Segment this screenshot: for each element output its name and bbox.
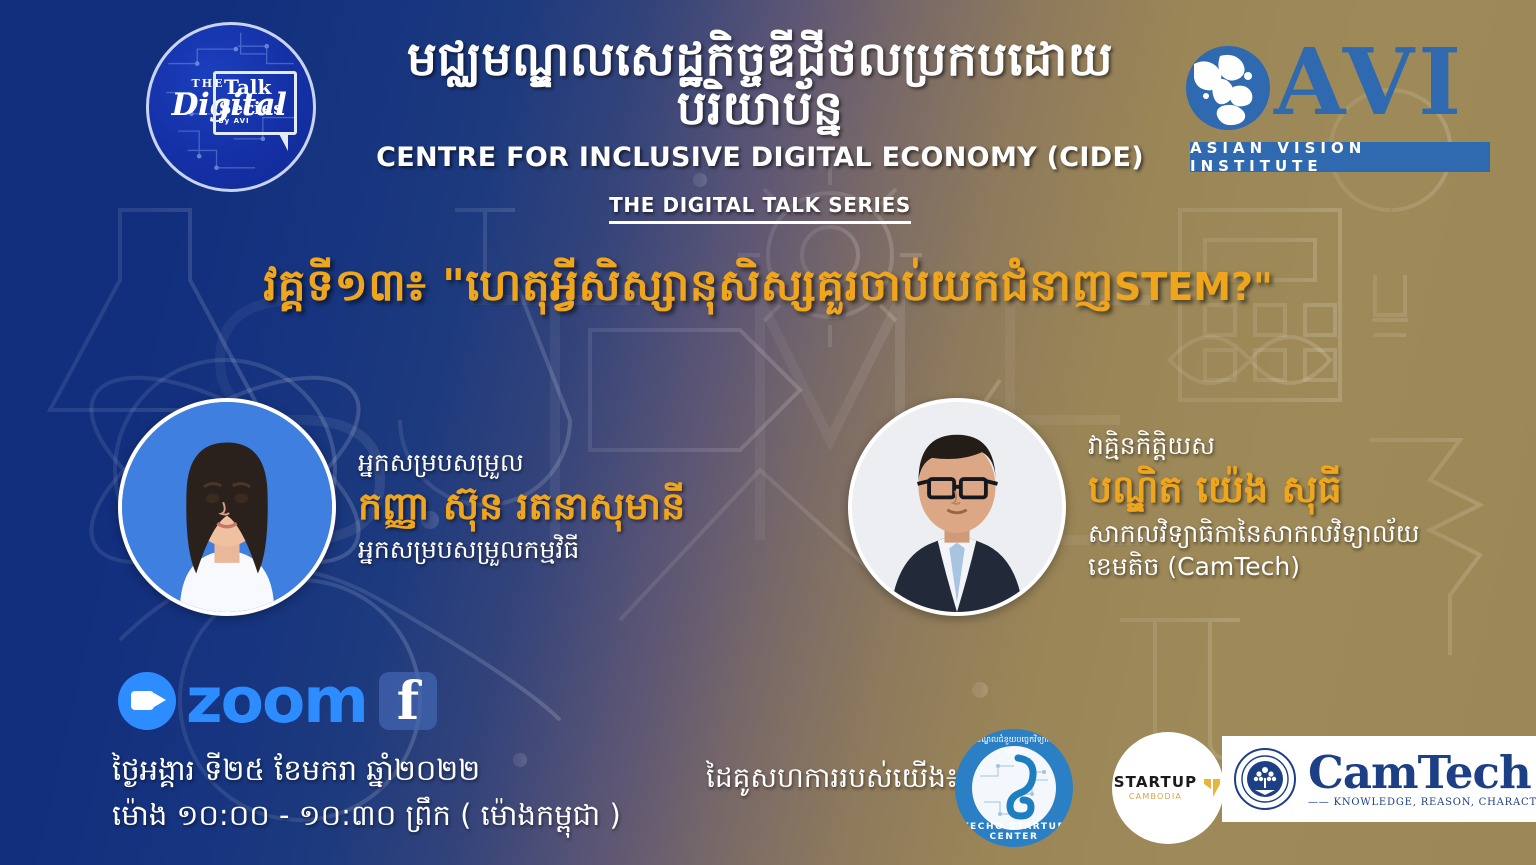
startup-cambodia-logo: STARTUP CAMBODIA (1112, 732, 1224, 844)
startup-country: CAMBODIA (1114, 792, 1197, 801)
techo-startup-center-logo: មជ្ឈមណ្ឌលជំនួយបច្ចេកវិទ្យាកម្ពុជា "តេជោ"… (955, 729, 1073, 847)
logo-series-text: Series (219, 99, 284, 119)
poster-header: THE Digital By AVI Talk Series មជ្ឈមណ្ឌល… (0, 0, 1536, 195)
speaker-card-moderator: អ្នកសម្របសម្រួល កញ្ញា ស៊ុន រតនាសុមានី អ្… (118, 398, 685, 616)
poster-canvas: THE Digital By AVI Talk Series មជ្ឈមណ្ឌល… (0, 0, 1536, 865)
speaker-org-guest-line1: សាកលវិទ្យាធិកានៃសាកលវិទ្យាល័យ (1088, 517, 1420, 551)
speaker-info-guest: វាគ្មិនកិត្តិយស បណ្ឌិត យ៉េង សុធី សាកលវិទ… (1088, 430, 1420, 584)
avatar-moderator (118, 398, 336, 616)
camtech-wordmark: CamTech —— KNOWLEDGE, REASON, CHARACTER … (1308, 750, 1536, 808)
globe-icon (1186, 46, 1270, 130)
logo-talk-text: Talk (224, 75, 271, 99)
speaker-org-guest-line2: ខេមតិច (CamTech) (1088, 550, 1420, 584)
techo-logo-inner (972, 746, 1056, 830)
facebook-f-glyph: f (379, 676, 437, 728)
techo-english-text: TECHO STARTUP CENTER (955, 822, 1073, 842)
digital-talk-series-logo: THE Digital By AVI Talk Series (146, 22, 316, 192)
event-date: ថ្ងៃអង្គារ ទី២៥ ខែមករា ឆ្នាំ២០២២ (112, 748, 621, 793)
event-datetime: ថ្ងៃអង្គារ ទី២៥ ខែមករា ឆ្នាំ២០២២ ម៉ោង ១០… (112, 748, 621, 838)
avi-fullname-text: ASIAN VISION INSTITUTE (1190, 139, 1490, 175)
platform-logos: zoom f (118, 672, 437, 730)
camtech-seal-icon (1234, 748, 1296, 810)
header-titles: មជ្ឈមណ្ឌលសេដ្ឋកិច្ចឌីជីថលប្រកបដោយបរិយាប័… (330, 36, 1190, 224)
speaker-name-moderator: កញ្ញា ស៊ុន រតនាសុមានី (358, 482, 685, 531)
avi-fullname-bar: ASIAN VISION INSTITUTE (1190, 142, 1490, 172)
zoom-camera-icon[interactable] (118, 672, 176, 730)
speaker-org-moderator: អ្នកសម្របសម្រួលកម្មវិធី (358, 533, 685, 567)
facebook-icon[interactable]: f (379, 672, 437, 730)
zoom-wordmark[interactable]: zoom (186, 672, 367, 730)
camtech-logo: CamTech —— KNOWLEDGE, REASON, CHARACTER … (1222, 736, 1536, 822)
startup-name: STARTUP (1114, 775, 1197, 790)
camtech-tagline: —— KNOWLEDGE, REASON, CHARACTER —— (1308, 797, 1536, 808)
speaker-role-moderator: អ្នកសម្របសម្រួល (358, 447, 685, 478)
partners-label: ដៃគូសហការរបស់យើង៖ (706, 760, 958, 801)
speaker-info-moderator: អ្នកសម្របសម្រួល កញ្ញា ស៊ុន រតនាសុមានី អ្… (358, 447, 685, 567)
event-time: ម៉ោង ១០:០០ - ១០:៣០ ព្រឹក ( ម៉ោងកម្ពុជា ) (112, 793, 621, 838)
avi-acronym: AVI (1274, 36, 1465, 128)
speaker-role-guest: វាគ្មិនកិត្តិយស (1088, 430, 1420, 461)
avatar-guest-speaker (848, 398, 1066, 616)
startup-chevron-icon (1202, 777, 1222, 799)
camtech-name: CamTech (1308, 750, 1536, 795)
speaker-name-guest: បណ្ឌិត យ៉េង សុធី (1088, 465, 1420, 514)
avi-logo: AVI ASIAN VISION INSTITUTE (1186, 38, 1496, 178)
header-khmer-title: មជ្ឈមណ្ឌលសេដ្ឋកិច្ចឌីជីថលប្រកបដោយបរិយាប័… (330, 36, 1190, 134)
techo-khmer-text: មជ្ឈមណ្ឌលជំនួយបច្ចេកវិទ្យាកម្ពុជា "តេជោ" (955, 734, 1073, 758)
speech-bubble-icon: Talk Series (213, 71, 297, 135)
header-series-label: THE DIGITAL TALK SERIES (609, 193, 911, 224)
header-english-title: CENTRE FOR INCLUSIVE DIGITAL ECONOMY (CI… (330, 142, 1190, 173)
page-title-stem: STEM?" (1114, 265, 1273, 309)
speaker-card-guest: វាគ្មិនកិត្តិយស បណ្ឌិត យ៉េង សុធី សាកលវិទ… (848, 398, 1420, 616)
page-title-khmer: វគ្គទី១៣៖ "ហេតុអ្វីសិស្សានុសិស្សគួរចាប់យ… (263, 260, 1114, 311)
page-title: វគ្គទី១៣៖ "ហេតុអ្វីសិស្សានុសិស្សគួរចាប់យ… (0, 258, 1536, 322)
